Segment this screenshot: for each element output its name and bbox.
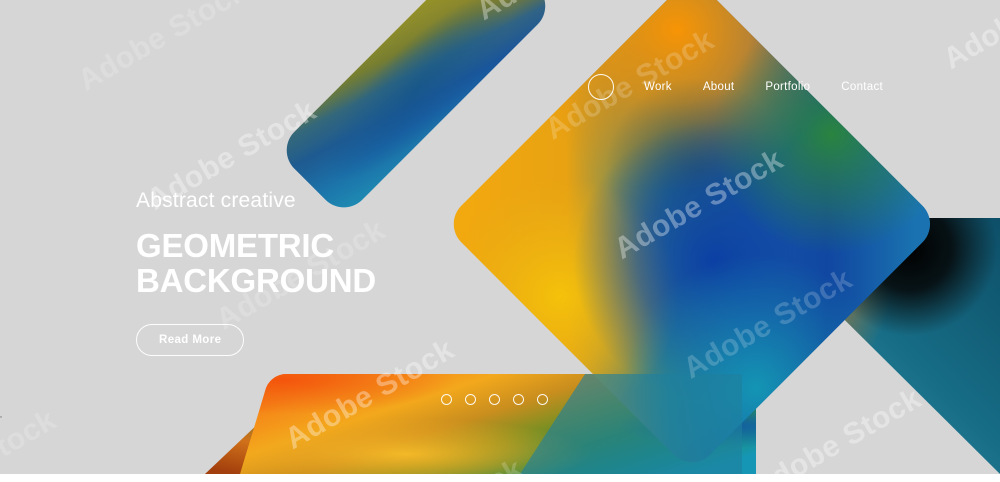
nav-item-portfolio[interactable]: Portfolio bbox=[765, 81, 810, 93]
hero-headline-line-1: GEOMETRIC bbox=[136, 227, 334, 264]
carousel-dot-3[interactable] bbox=[489, 394, 500, 405]
nav-item-work[interactable]: Work bbox=[644, 81, 672, 93]
carousel-pagination bbox=[441, 394, 548, 405]
carousel-dot-1[interactable] bbox=[441, 394, 452, 405]
stock-credit-label: Adobe Stock | #618096836 bbox=[0, 361, 2, 474]
carousel-dot-4[interactable] bbox=[513, 394, 524, 405]
carousel-dot-2[interactable] bbox=[465, 394, 476, 405]
read-more-button[interactable]: Read More bbox=[136, 324, 244, 356]
hero-headline-line-2: BACKGROUND bbox=[136, 264, 376, 299]
hero-headline: GEOMETRIC BACKGROUND bbox=[136, 229, 376, 299]
circle-logo-icon[interactable] bbox=[588, 74, 614, 100]
main-navigation: Work About Portfolio Contact bbox=[588, 74, 883, 100]
carousel-dot-5[interactable] bbox=[537, 394, 548, 405]
nav-item-contact[interactable]: Contact bbox=[841, 81, 883, 93]
hero-banner: Adobe StockAdobe StockAdobe StockAdobe S… bbox=[0, 0, 1000, 482]
bottom-white-band bbox=[0, 474, 1000, 482]
nav-item-about[interactable]: About bbox=[703, 81, 735, 93]
hero-content: Abstract creative GEOMETRIC BACKGROUND R… bbox=[136, 190, 376, 356]
hero-eyebrow: Abstract creative bbox=[136, 190, 376, 211]
